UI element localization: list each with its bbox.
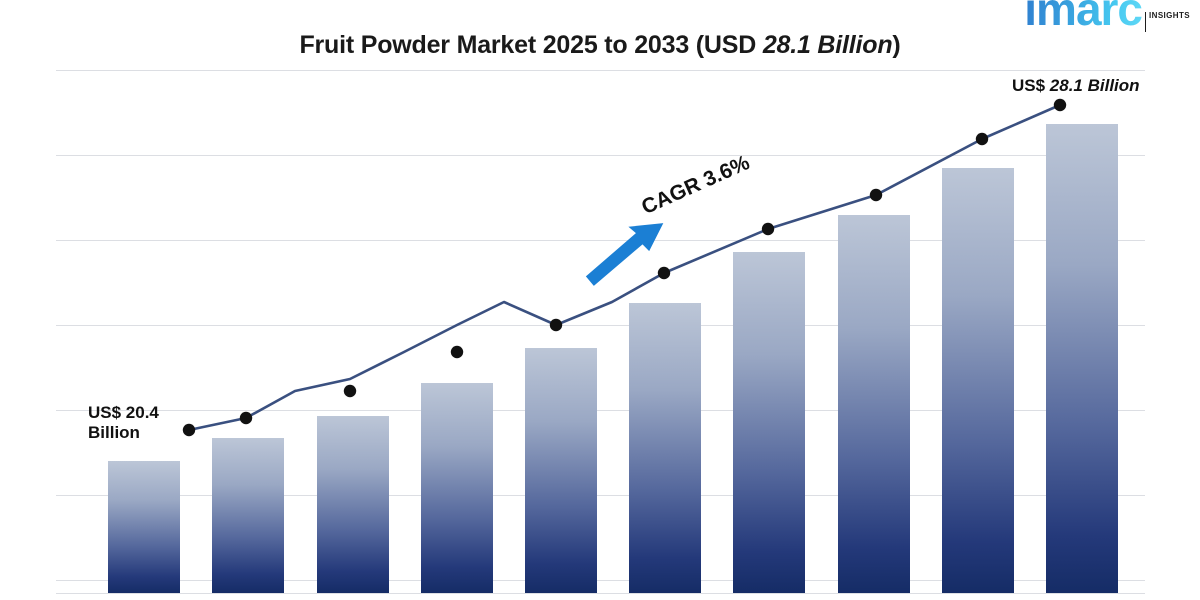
trend-arrow-up-right-icon: [572, 209, 678, 290]
bar-2029: [629, 303, 701, 593]
trend-marker-2024: [183, 424, 195, 436]
bar-2024: [108, 461, 180, 593]
bar-2026: [317, 416, 389, 593]
start-value-label: US$ 20.4 Billion: [88, 403, 159, 443]
end-value-prefix: US$: [1012, 76, 1050, 95]
trend-marker-2033: [1054, 99, 1066, 111]
trend-marker-2029: [658, 267, 670, 279]
gridline-1: [56, 155, 1145, 156]
gridline-7: [56, 593, 1145, 594]
bar-2033: [1046, 124, 1118, 593]
trend-marker-2031: [870, 189, 882, 201]
bar-2030: [733, 252, 805, 593]
bar-2031: [838, 215, 910, 593]
trend-marker-2030: [762, 223, 774, 235]
bar-2032: [942, 168, 1014, 593]
trend-marker-2032: [976, 133, 988, 145]
market-forecast-chart: US$ 20.4 Billion US$ 28.1 Billion CAGR 3…: [0, 0, 1200, 600]
start-value-line1: US$ 20.4: [88, 403, 159, 423]
end-value-label: US$ 28.1 Billion: [1012, 76, 1140, 96]
cagr-label: CAGR 3.6%: [638, 151, 753, 220]
trend-marker-2025: [240, 412, 252, 424]
end-value-amount: 28.1 Billion: [1050, 76, 1140, 95]
gridline-0: [56, 70, 1145, 71]
bar-2025: [212, 438, 284, 593]
trend-marker-2027: [451, 346, 463, 358]
bar-2028: [525, 348, 597, 593]
bar-2027: [421, 383, 493, 593]
trend-marker-2026: [344, 385, 356, 397]
start-value-line2: Billion: [88, 423, 159, 443]
